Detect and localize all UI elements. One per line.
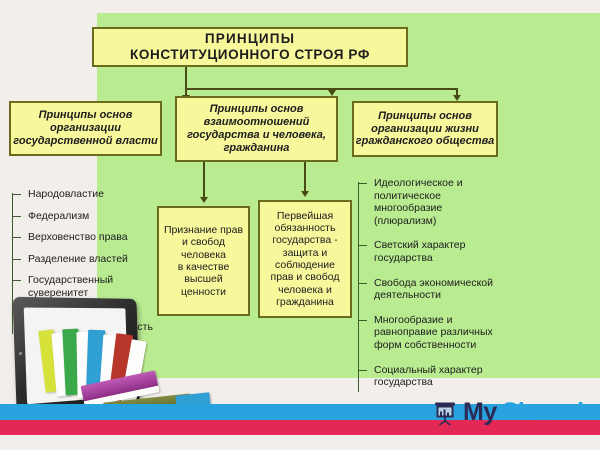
left-list-item-3: Разделение властей (12, 253, 162, 266)
category-1-line-2: государства и человека, (187, 129, 326, 142)
right-item-4-line-1: государства (374, 376, 433, 388)
detail-0-line-4: высшей (184, 273, 223, 285)
connector-title-stem-left (185, 67, 187, 89)
slide-canvas: ПРИНЦИПЫ КОНСТИТУЦИОННОГО СТРОЯ РФ Принц… (0, 0, 600, 450)
detail-0-line-1: и свобод (182, 236, 225, 248)
detail-0-line-3: в качестве (178, 261, 230, 273)
right-item-2-line-1: деятельности (374, 289, 441, 301)
category-0-line-1: организации (50, 122, 121, 135)
left-list-item-2: Верховенство права (12, 231, 162, 244)
logo-text-shared: Shared (502, 398, 584, 427)
detail-1-line-5: прав и свобод (271, 271, 340, 283)
arrow-detail-0 (200, 197, 208, 203)
right-item-1-line-0: Светский характер (374, 239, 465, 251)
right-list-item-1: Светский характер государства (358, 239, 504, 264)
diagram-title-box: ПРИНЦИПЫ КОНСТИТУЦИОННОГО СТРОЯ РФ (92, 27, 408, 67)
category-2-line-2: гражданского общества (356, 135, 494, 148)
detail-0-line-2: человека (181, 249, 226, 261)
left-item-3-line-0: Разделение властей (28, 253, 128, 265)
tablet-camera-icon (19, 352, 22, 355)
left-list-item-1: Федерализм (12, 210, 162, 223)
detail-box-state-duty: Первейшая обязанность государства - защи… (258, 200, 352, 318)
category-1-line-1: взаимоотношений (204, 116, 310, 129)
category-box-society: Принципы основ организации жизни граждан… (352, 101, 498, 157)
right-item-4-line-0: Социальный характер (374, 364, 483, 376)
detail-1-line-6: человека и (278, 284, 332, 296)
connector-drop-detail-1 (304, 162, 306, 192)
category-box-power: Принципы основ организации государственн… (9, 101, 162, 156)
diagram-title-line-2: КОНСТИТУЦИОННОГО СТРОЯ РФ (130, 47, 370, 63)
myshared-logo[interactable]: My Shared (432, 398, 584, 427)
presentation-chart-icon (432, 400, 458, 426)
category-2-line-0: Принципы основ (378, 110, 472, 123)
right-item-0-line-1: политическое многообразие (374, 190, 442, 215)
right-list-item-4: Социальный характер государства (358, 364, 504, 389)
right-principles-list: Идеологическое и политическое многообраз… (358, 177, 504, 401)
right-item-1-line-1: государства (374, 252, 433, 264)
right-item-3-line-0: Многообразие и (374, 314, 453, 326)
category-0-line-0: Принципы основ (39, 109, 133, 122)
connector-drop-detail-0 (203, 162, 205, 198)
right-item-2-line-0: Свобода экономической (374, 277, 493, 289)
category-0-line-2: государственной власти (13, 135, 157, 148)
left-item-0-line-0: Народовластие (28, 188, 104, 200)
category-1-line-3: гражданина (224, 142, 290, 155)
diagram-title-line-1: ПРИНЦИПЫ (205, 31, 295, 47)
right-item-0-line-0: Идеологическое и (374, 177, 463, 189)
connector-title-bus (185, 88, 457, 90)
detail-1-line-1: обязанность (275, 222, 336, 234)
category-1-line-0: Принципы основ (210, 103, 304, 116)
arrow-detail-1 (301, 191, 309, 197)
detail-1-line-4: соблюдение (275, 259, 335, 271)
right-item-0-line-2: (плюрализм) (374, 215, 436, 227)
left-list-item-0: Народовластие (12, 188, 162, 201)
right-list-item-2: Свобода экономической деятельности (358, 277, 504, 302)
category-2-line-1: организации жизни (371, 123, 479, 136)
detail-0-line-0: Признание прав (164, 224, 243, 236)
detail-1-line-3: защита и (283, 247, 327, 259)
logo-text-my: My (463, 398, 497, 427)
left-item-1-line-0: Федерализм (28, 210, 89, 222)
detail-1-line-2: государства - (272, 234, 337, 246)
left-item-4-line-0: Государственный (28, 274, 113, 286)
right-list-item-0: Идеологическое и политическое многообраз… (358, 177, 504, 227)
right-item-3-line-1: равноправие различных (374, 326, 493, 338)
detail-1-line-7: гражданина (276, 296, 334, 308)
right-item-3-line-2: форм собственности (374, 339, 476, 351)
right-list-item-3: Многообразие и равноправие различных фор… (358, 314, 504, 352)
detail-1-line-0: Первейшая (277, 210, 333, 222)
left-item-2-line-0: Верховенство права (28, 231, 128, 243)
category-box-relations: Принципы основ взаимоотношений государст… (175, 96, 338, 162)
